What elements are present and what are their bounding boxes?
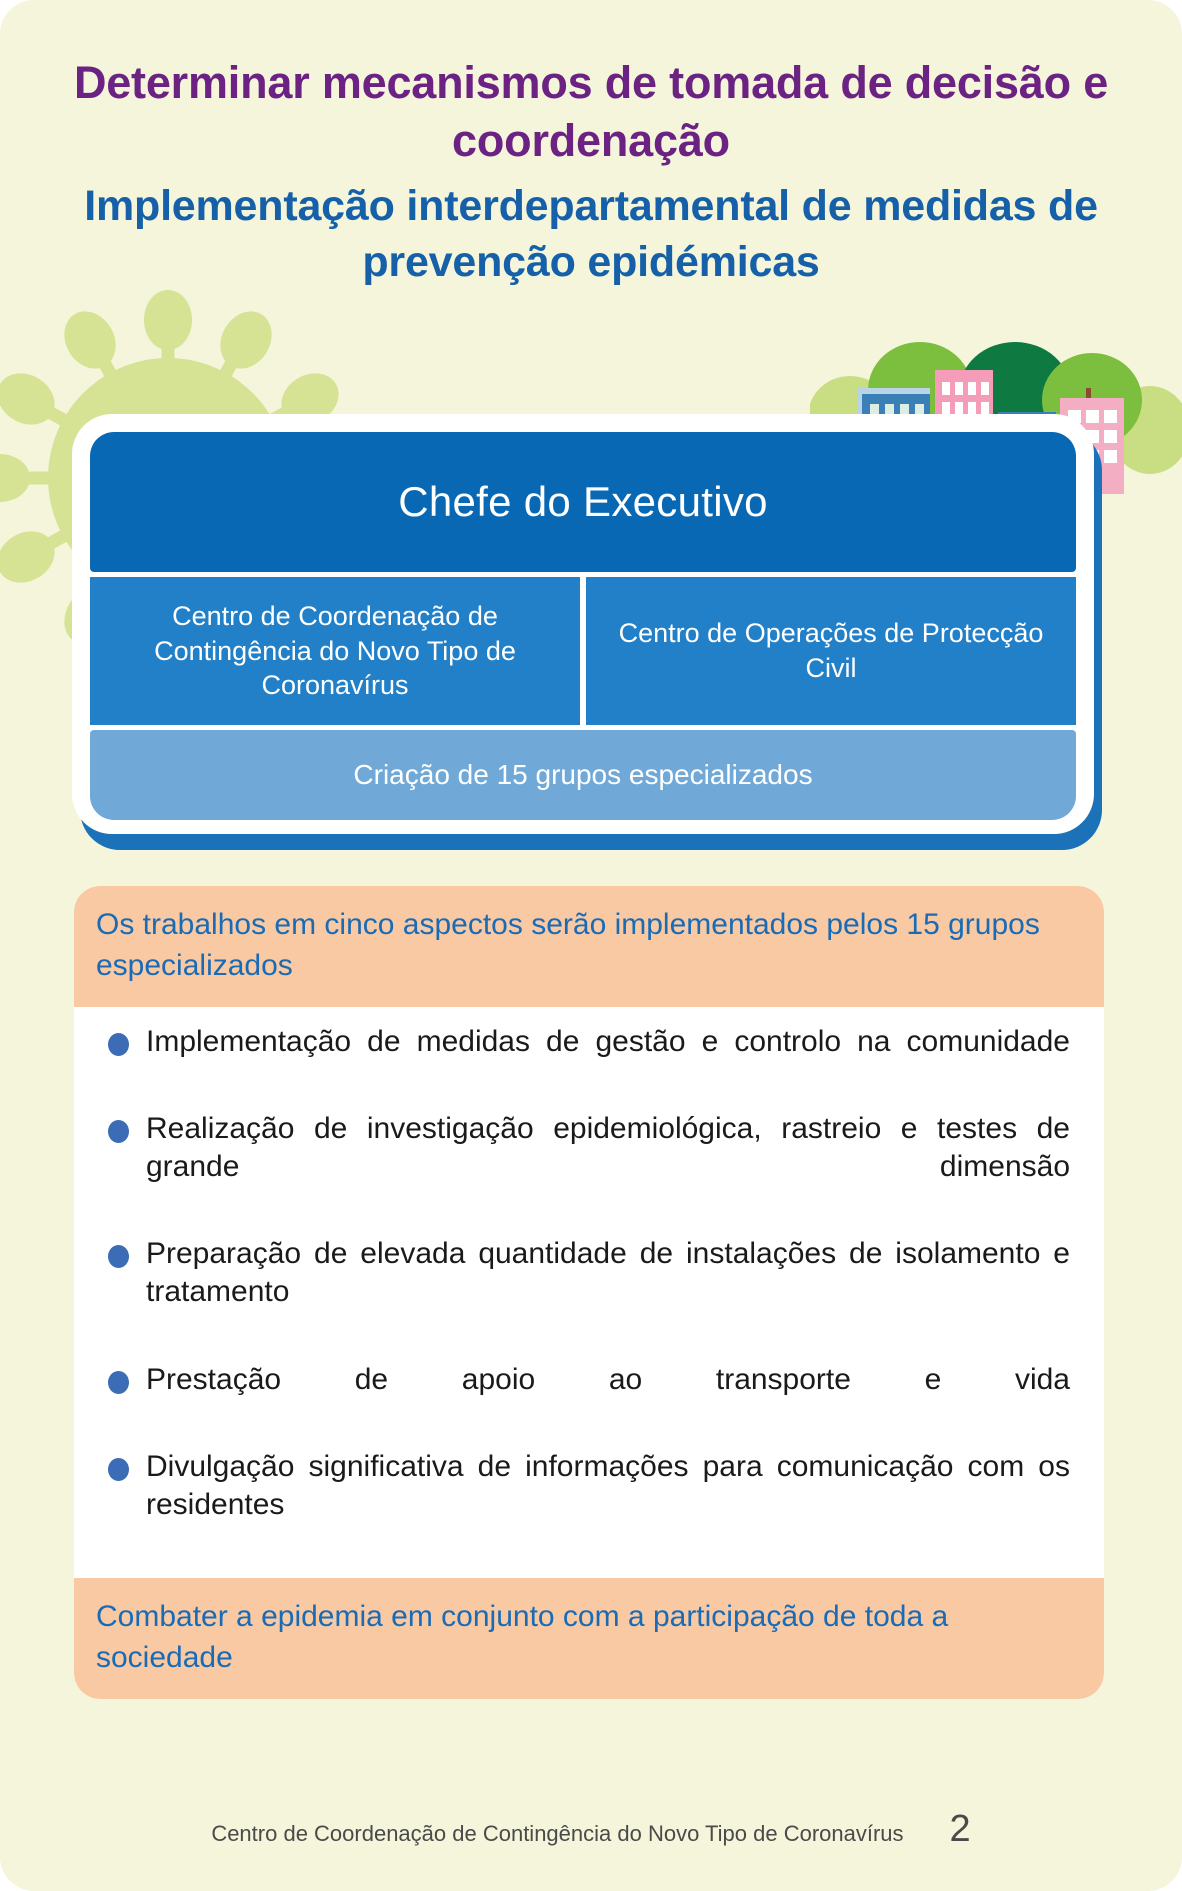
band-fight-epidemic: Combater a epidemia em conjunto com a pa… <box>74 1578 1104 1699</box>
list-item: Divulgação significativa de informações … <box>108 1448 1070 1562</box>
page-number: 2 <box>950 1808 971 1851</box>
content-panel: Os trabalhos em cinco aspectos serão imp… <box>74 886 1104 1699</box>
headings-block: Determinar mecanismos de tomada de decis… <box>0 54 1182 291</box>
footer-organisation-label: Centro de Coordenação de Contingência do… <box>211 1821 903 1847</box>
list-item-label: Implementação de medidas de gestão e con… <box>146 1023 1070 1099</box>
list-item-label: Divulgação significativa de informações … <box>146 1448 1070 1562</box>
list-item: Realização de investigação epidemiológic… <box>108 1110 1070 1224</box>
org-chart-card: Chefe do Executivo Centro de Coordenação… <box>72 414 1094 834</box>
org-node-specialised-groups: Criação de 15 grupos especializados <box>90 730 1076 820</box>
bullet-dot-icon <box>108 1245 129 1268</box>
list-item: Prestação de apoio ao transporte e vida <box>108 1361 1070 1437</box>
list-item-label: Realização de investigação epidemiológic… <box>146 1110 1070 1224</box>
list-item-label: Prestação de apoio ao transporte e vida <box>146 1361 1070 1437</box>
page-title-sub: Implementação interdepartamental de medi… <box>56 179 1126 291</box>
footer: Centro de Coordenação de Contingência do… <box>0 1808 1182 1851</box>
tree-light-green-far-right <box>1110 386 1182 474</box>
list-item: Preparação de elevada quantidade de inst… <box>108 1235 1070 1349</box>
list-item-label: Preparação de elevada quantidade de inst… <box>146 1235 1070 1349</box>
bullet-dot-icon <box>108 1120 129 1143</box>
band-five-aspects: Os trabalhos em cinco aspectos serão imp… <box>74 886 1104 1007</box>
org-node-coordination-centre: Centro de Coordenação de Contingência do… <box>90 577 580 725</box>
org-node-civil-protection-centre: Centro de Operações de Protecção Civil <box>586 577 1076 725</box>
org-node-chief-executive: Chefe do Executivo <box>90 432 1076 572</box>
bullet-dot-icon <box>108 1371 129 1394</box>
poster-page: Determinar mecanismos de tomada de decis… <box>0 0 1182 1891</box>
bullet-dot-icon <box>108 1458 129 1481</box>
org-middle-row: Centro de Coordenação de Contingência do… <box>90 577 1076 725</box>
page-title-main: Determinar mecanismos de tomada de decis… <box>56 54 1126 169</box>
bullet-list: Implementação de medidas de gestão e con… <box>74 1007 1104 1578</box>
list-item: Implementação de medidas de gestão e con… <box>108 1023 1070 1099</box>
bullet-dot-icon <box>108 1033 129 1056</box>
